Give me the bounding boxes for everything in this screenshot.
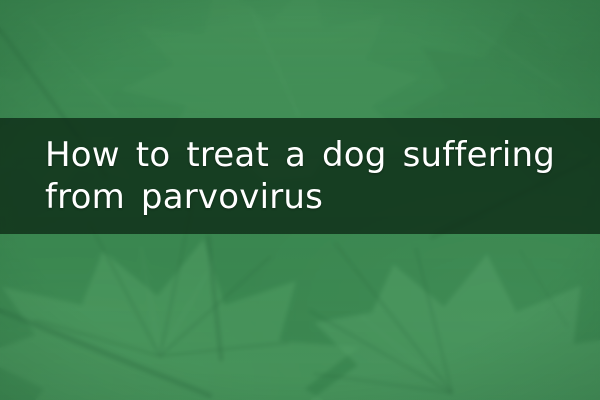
hero-title: How to treat a dog suffering from parvov… (0, 134, 600, 218)
title-overlay-banner: How to treat a dog suffering from parvov… (0, 118, 600, 234)
hero-banner-image: How to treat a dog suffering from parvov… (0, 0, 600, 400)
